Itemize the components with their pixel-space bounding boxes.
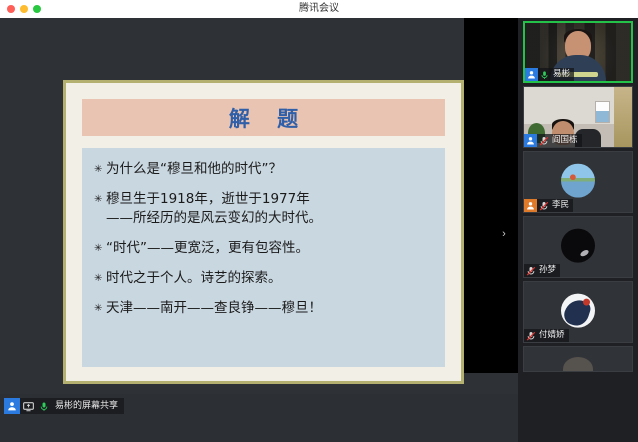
participant-tile[interactable]: 易彬 xyxy=(523,21,633,83)
bullet-marker-icon: ✳ xyxy=(94,190,106,209)
participant-name: 易彬 xyxy=(551,68,570,81)
screen-share-indicator[interactable]: 易彬的屏幕共享 xyxy=(4,398,124,414)
bullet-text: 天津——南开——查良铮——穆旦！ xyxy=(106,299,322,318)
screen-share-stage: 解 题 ✳ 为什么是“穆旦和他的时代”？ ✳ 穆旦生于1918年，逝世于1977… xyxy=(0,18,518,418)
slide-body: ✳ 为什么是“穆旦和他的时代”？ ✳ 穆旦生于1918年，逝世于1977年 ——… xyxy=(82,148,445,367)
microphone-muted-icon xyxy=(537,134,550,147)
participant-name-strip: 易彬 xyxy=(525,68,574,81)
participant-tile[interactable]: 阎国栋 xyxy=(523,86,633,148)
person-icon xyxy=(525,68,538,81)
avatar xyxy=(563,357,593,372)
bullet-text: 为什么是“穆旦和他的时代”？ xyxy=(106,160,282,179)
participant-sidebar[interactable]: 易彬 阎国栋 xyxy=(518,18,638,442)
bullet-marker-icon: ✳ xyxy=(94,269,106,288)
presentation-slide: 解 题 ✳ 为什么是“穆旦和他的时代”？ ✳ 穆旦生于1918年，逝世于1977… xyxy=(63,80,464,384)
participant-tile[interactable]: 孙梦 xyxy=(523,216,633,278)
person-icon xyxy=(524,199,537,212)
participant-tile[interactable]: 付婧娇 xyxy=(523,281,633,343)
video-detail xyxy=(614,87,632,147)
slide-bullet: ✳ 时代之于个人。诗艺的探索。 xyxy=(94,269,431,288)
window-title: 腾讯会议 xyxy=(0,0,638,18)
bullet-text: 穆旦生于1918年，逝世于1977年 ——所经历的是风云变幻的大时代。 xyxy=(106,190,322,228)
person-icon xyxy=(524,134,537,147)
slide-bullet: ✳ “时代”——更宽泛，更有包容性。 xyxy=(94,239,431,258)
bullet-marker-icon: ✳ xyxy=(94,239,106,258)
slide-bullet: ✳ 穆旦生于1918年，逝世于1977年 ——所经历的是风云变幻的大时代。 xyxy=(94,190,431,228)
video-detail xyxy=(595,101,610,123)
tencent-meeting-window: 腾讯会议 解 题 ✳ 为什么是“穆旦和他的时代”？ ✳ 穆旦生于1918年，逝世… xyxy=(0,0,638,442)
bullet-marker-icon: ✳ xyxy=(94,299,106,318)
person-icon xyxy=(4,398,20,414)
screen-share-label: 易彬的屏幕共享 xyxy=(52,398,124,414)
slide-title: 解 题 xyxy=(219,103,308,133)
participant-name-strip: 李民 xyxy=(524,199,573,212)
bullet-marker-icon: ✳ xyxy=(94,160,106,179)
microphone-muted-icon xyxy=(524,264,537,277)
participant-name: 孙梦 xyxy=(537,264,556,277)
participant-name: 阎国栋 xyxy=(550,134,578,147)
slide-title-band: 解 题 xyxy=(82,99,445,136)
window-titlebar: 腾讯会议 xyxy=(0,0,638,18)
avatar xyxy=(561,294,595,328)
microphone-muted-icon xyxy=(524,329,537,342)
bullet-text: 时代之于个人。诗艺的探索。 xyxy=(106,269,282,288)
slide-bullet: ✳ 为什么是“穆旦和他的时代”？ xyxy=(94,160,431,179)
microphone-muted-icon xyxy=(537,199,550,212)
bullet-text: “时代”——更宽泛，更有包容性。 xyxy=(106,239,309,258)
avatar xyxy=(561,164,595,198)
slide-inner: 解 题 ✳ 为什么是“穆旦和他的时代”？ ✳ 穆旦生于1918年，逝世于1977… xyxy=(66,83,461,381)
participant-name: 李民 xyxy=(550,199,569,212)
microphone-icon xyxy=(36,398,52,414)
collapse-sidebar-button[interactable]: › xyxy=(498,222,510,246)
participant-tile[interactable]: 李民 xyxy=(523,151,633,213)
participant-name-strip: 孙梦 xyxy=(524,264,560,277)
participant-name-strip: 阎国栋 xyxy=(524,134,582,147)
participant-name-strip: 付婧娇 xyxy=(524,329,569,342)
participant-tile[interactable] xyxy=(523,346,633,372)
avatar xyxy=(561,229,595,263)
share-status-bar: 易彬的屏幕共享 xyxy=(0,394,518,418)
microphone-icon xyxy=(538,68,551,81)
screen-share-icon xyxy=(20,398,36,414)
slide-bullet: ✳ 天津——南开——查良铮——穆旦！ xyxy=(94,299,431,318)
participant-name: 付婧娇 xyxy=(537,329,565,342)
